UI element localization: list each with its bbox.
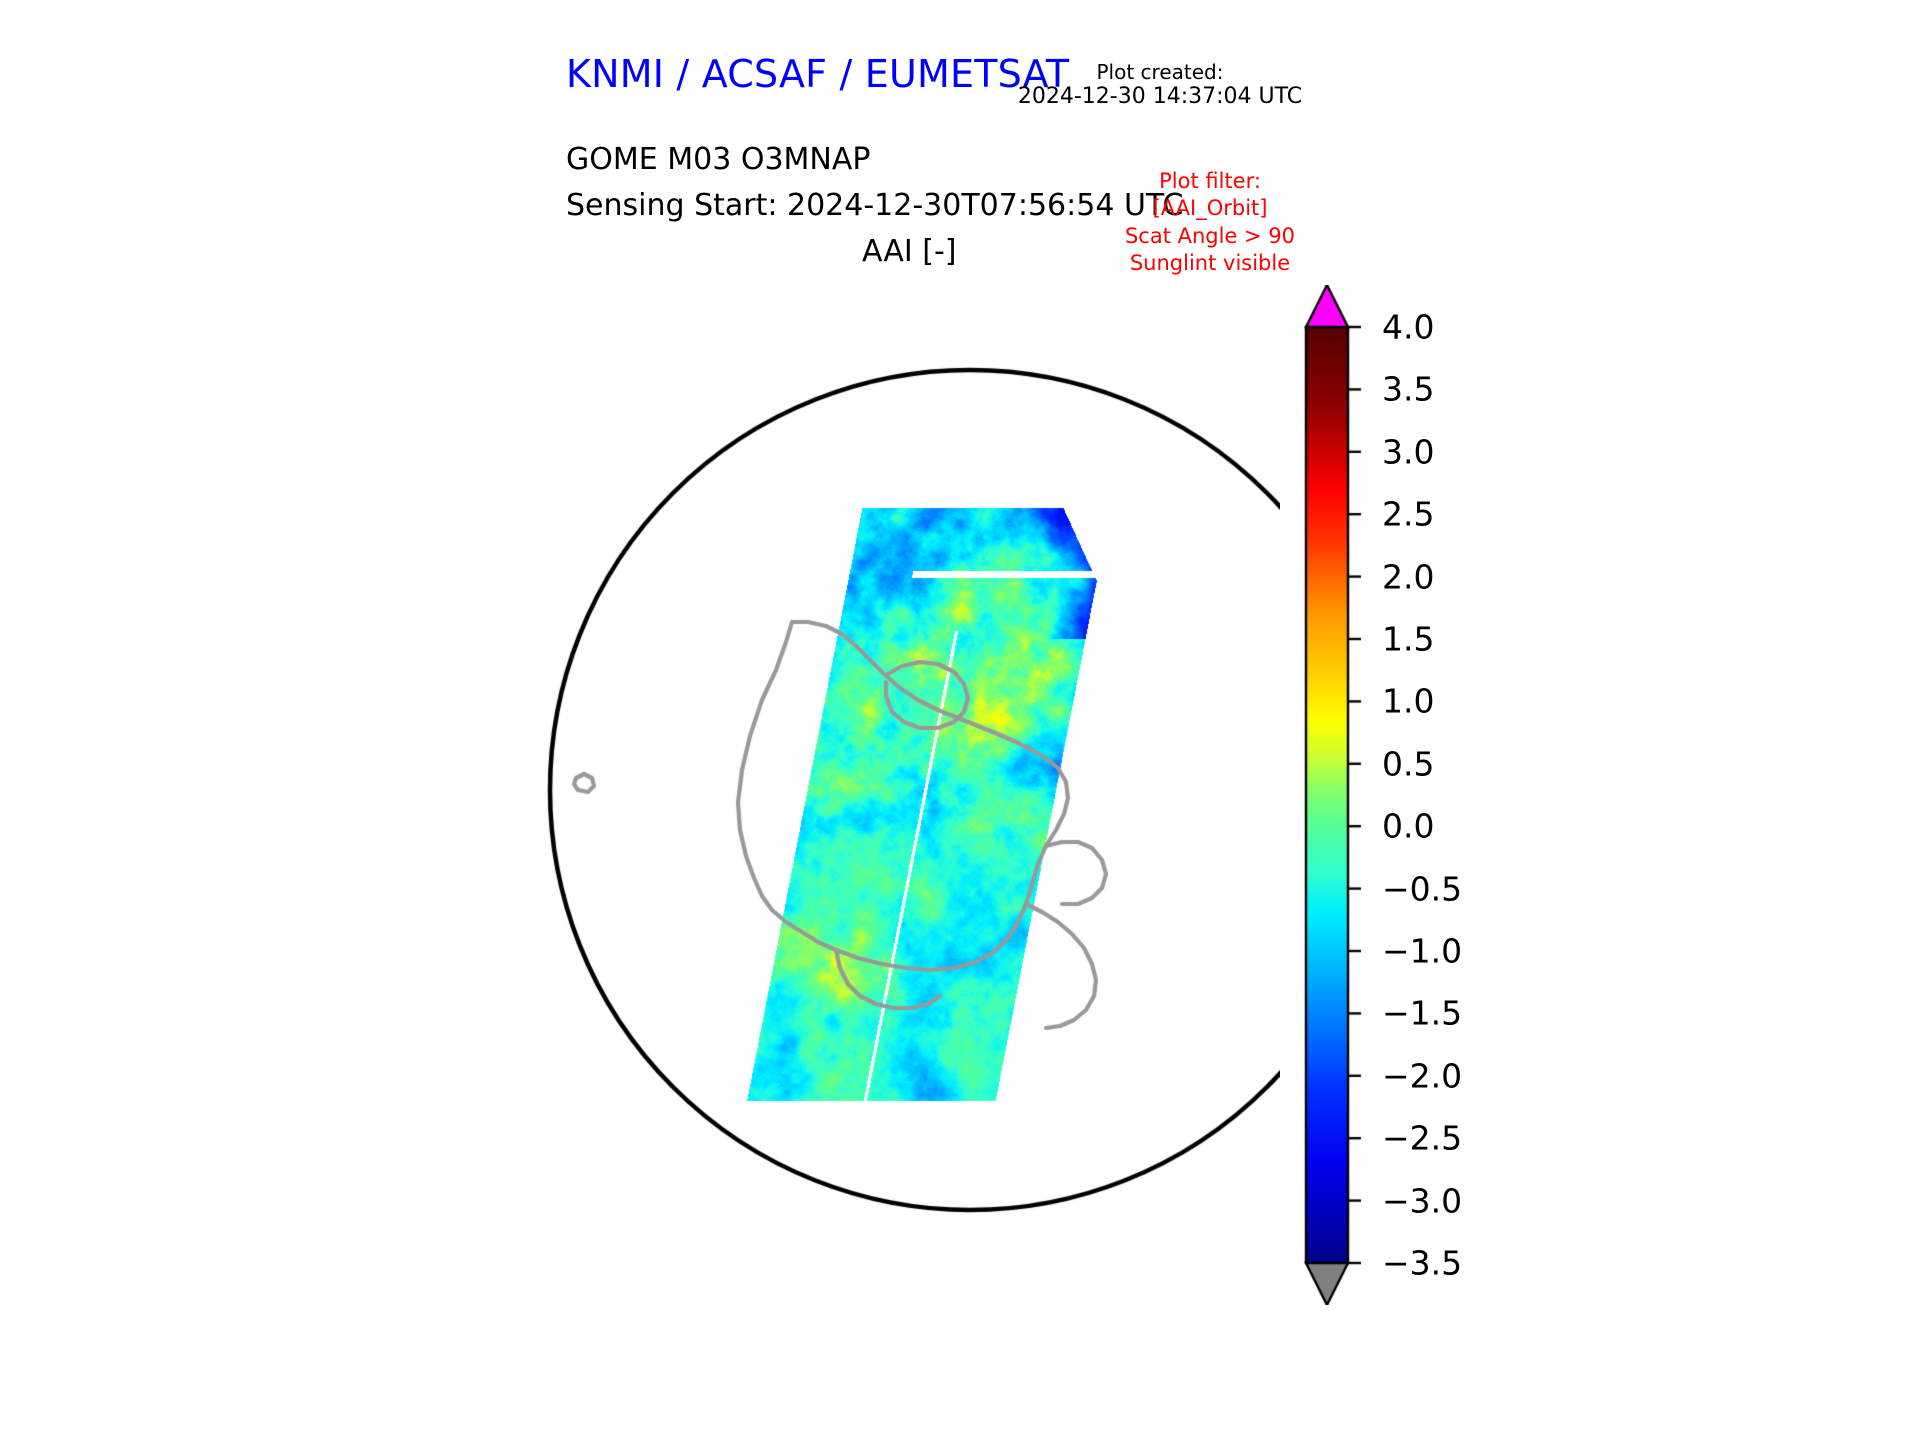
orthographic-globe-canvas — [540, 270, 1280, 1310]
colorbar-tick-label: −1.0 — [1382, 932, 1462, 971]
colorbar-tick-label: −3.0 — [1382, 1181, 1462, 1220]
colorbar-tick-label: 3.5 — [1382, 370, 1434, 409]
plot-root: KNMI / ACSAF / EUMETSAT Plot created: 20… — [0, 0, 1920, 1440]
organisation-title: KNMI / ACSAF / EUMETSAT — [566, 52, 1069, 96]
colorbar-tick-label: 2.5 — [1382, 495, 1434, 534]
colorbar-tick-label: 1.0 — [1382, 682, 1434, 721]
colorbar-tick-label: −0.5 — [1382, 869, 1462, 908]
product-title: GOME M03 O3MNAP — [566, 142, 870, 177]
quantity-label: AAI [-] — [862, 234, 957, 269]
plot-filter-line-0: [AAI_Orbit] — [1060, 195, 1360, 222]
colorbar-tick-label: 0.5 — [1382, 744, 1434, 783]
colorbar: 4.03.53.02.52.01.51.00.50.0−0.5−1.0−1.5−… — [1298, 285, 1558, 1305]
plot-filter-line-1: Scat Angle > 90 — [1060, 223, 1360, 250]
map-panel — [540, 270, 1280, 1310]
plot-created-timestamp: 2024-12-30 14:37:04 UTC — [1000, 84, 1320, 109]
colorbar-tick-label: −2.0 — [1382, 1056, 1462, 1095]
colorbar-tick-label: 3.0 — [1382, 432, 1434, 471]
colorbar-tick-label: 4.0 — [1382, 308, 1434, 347]
colorbar-tick-label: 1.5 — [1382, 620, 1434, 659]
colorbar-tick-label: −3.5 — [1382, 1244, 1462, 1283]
colorbar-tick-label: 0.0 — [1382, 807, 1434, 846]
plot-created-label: Plot created: — [1010, 60, 1310, 86]
plot-filter-heading: Plot filter: — [1060, 168, 1360, 195]
plot-filter-block: Plot filter: [AAI_Orbit] Scat Angle > 90… — [1060, 168, 1360, 277]
colorbar-tick-label: 2.0 — [1382, 557, 1434, 596]
colorbar-tick-label: −2.5 — [1382, 1119, 1462, 1158]
colorbar-tick-label: −1.5 — [1382, 994, 1462, 1033]
colorbar-gradient — [1298, 285, 1378, 1305]
